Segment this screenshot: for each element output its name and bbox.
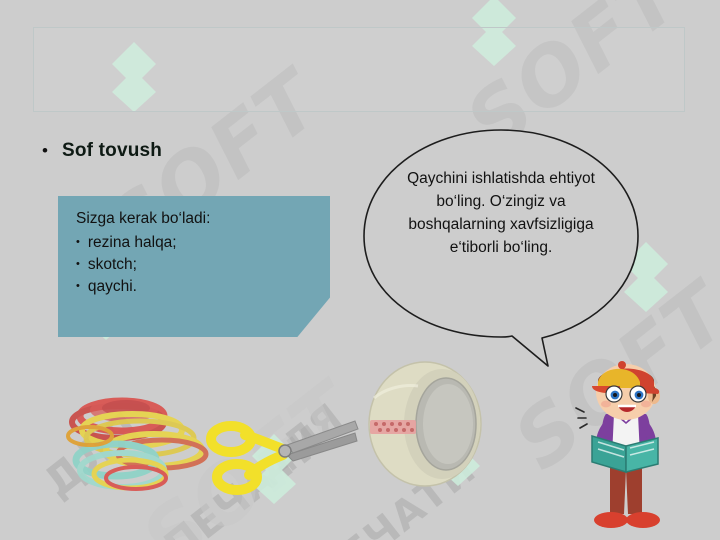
boy-with-book-illustration	[558, 352, 694, 538]
list-item-label: rezina halqa;	[88, 232, 177, 254]
list-item: • skotch;	[76, 254, 314, 276]
bullet-icon: •	[76, 281, 80, 292]
list-item-label: qaychi.	[88, 276, 137, 298]
materials-box: Sizga kerak bo‘ladi: • rezina halqa; • s…	[58, 196, 330, 337]
heading-text: Sof tovush	[62, 140, 162, 162]
bullet-icon: •	[76, 259, 80, 270]
speech-bubble-text: Qaychini ishlatishda ehtiyot bo‘ling. O‘…	[386, 168, 616, 260]
speech-bubble: Qaychini ishlatishda ehtiyot bo‘ling. O‘…	[360, 126, 642, 371]
materials-list: • rezina halqa; • skotch; • qaychi.	[76, 232, 314, 298]
materials-title: Sizga kerak bo‘ladi:	[76, 210, 314, 228]
bullet-icon: •	[42, 142, 48, 159]
list-item-label: skotch;	[88, 254, 137, 276]
heading-bullet-row: • Sof tovush	[42, 140, 162, 162]
slide-canvas: ДЛЯ ПЕЧАТИ ДЛЯ ПЕЧАТИ SOFT SOFT SOFT SOF…	[0, 0, 720, 540]
list-item: • rezina halqa;	[76, 232, 314, 254]
scissors-photo	[205, 403, 360, 498]
list-item: • qaychi.	[76, 276, 314, 298]
title-text	[34, 28, 684, 44]
title-placeholder[interactable]	[33, 27, 685, 112]
bullet-icon: •	[76, 237, 80, 248]
tape-roll-photo	[356, 358, 494, 490]
